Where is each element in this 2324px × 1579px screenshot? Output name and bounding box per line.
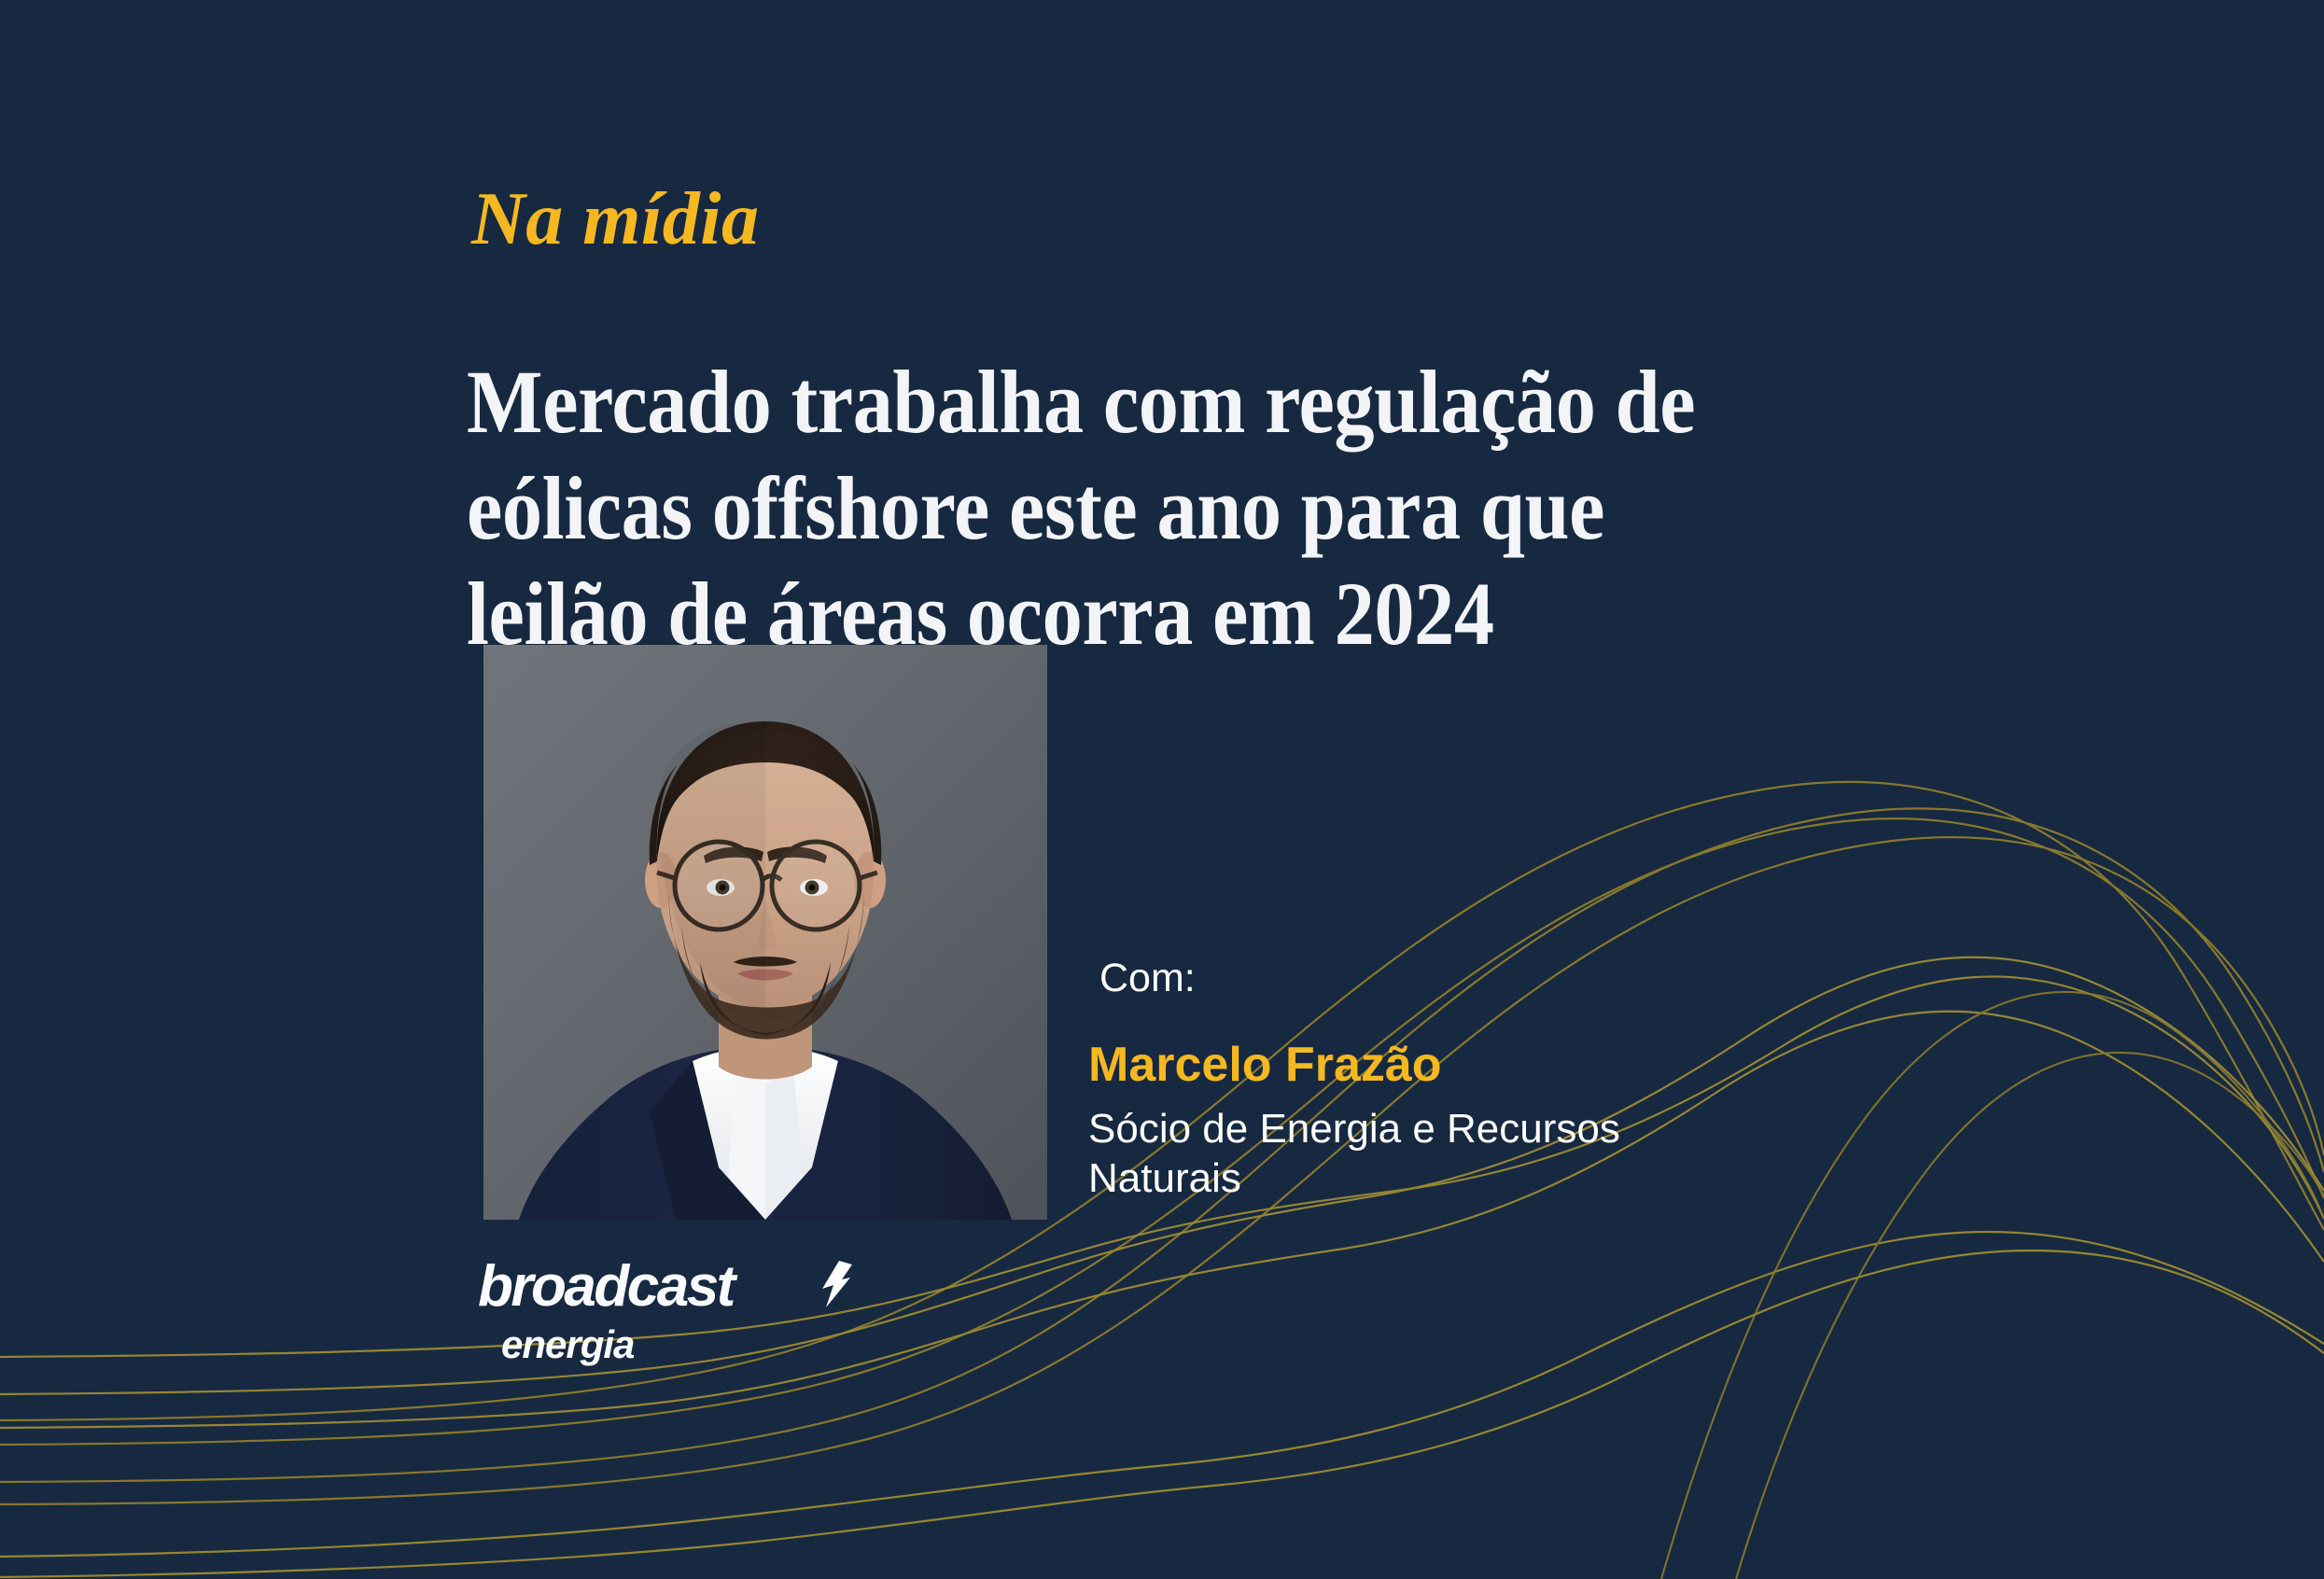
media-announcement-card: Na mídia Mercado trabalha com regulação … — [0, 0, 2324, 1579]
page-title: Mercado trabalha com regulação de eólica… — [467, 349, 1777, 666]
logo-wordmark-broadcast: broadcast — [478, 1258, 734, 1316]
credit-with-label: Com: — [1088, 954, 1667, 1004]
broadcast-energia-logo: broadcast energia — [478, 1258, 870, 1370]
credit-block: Com: Marcelo Frazão Sócio de Energia e R… — [1088, 954, 1667, 1203]
decorative-wave-lines — [0, 0, 2324, 1579]
credit-person-role: Sócio de Energia e Recursos Naturais — [1088, 1105, 1667, 1204]
kicker-label: Na mídia — [471, 182, 759, 257]
logo-wordmark-energia: energia — [501, 1325, 634, 1364]
lightning-bolt-icon — [811, 1261, 854, 1307]
avatar — [483, 645, 1047, 1220]
portrait-illustration — [483, 645, 1047, 1220]
credit-person-name: Marcelo Frazão — [1088, 1035, 1667, 1096]
